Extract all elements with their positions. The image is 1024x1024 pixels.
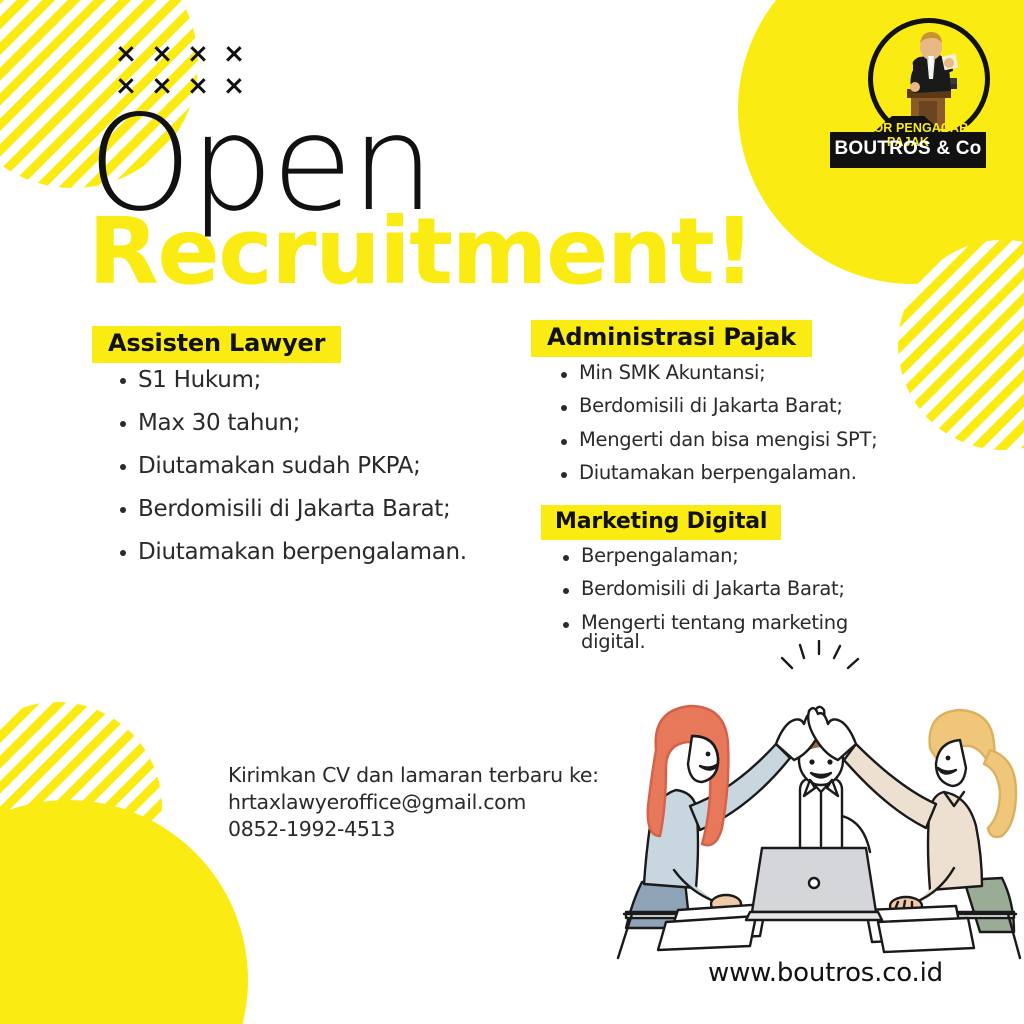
logo-company-name: BOUTROS & Co <box>822 138 994 160</box>
x-mark-icon <box>108 38 144 70</box>
list-item: Mengerti dan bisa mengisi SPT; <box>557 430 911 450</box>
team-high-five-illustration <box>604 640 1024 965</box>
list-item: Max 30 tahun; <box>116 412 512 435</box>
job-marketing-digital: Marketing Digital Berpengalaman; Berdomi… <box>541 505 911 652</box>
yellow-circle-bottom-left-decoration <box>0 800 248 1024</box>
job-column-left: Assisten Lawyer S1 Hukum; Max 30 tahun; … <box>92 326 512 584</box>
job-title-marketing-digital: Marketing Digital <box>541 505 781 540</box>
list-item: Berpengalaman; <box>559 546 911 566</box>
x-mark-icon <box>180 38 216 70</box>
job-administrasi-pajak: Administrasi Pajak Min SMK Akuntansi; Be… <box>531 320 911 483</box>
contact-phone[interactable]: 0852-1992-4513 <box>228 816 599 843</box>
job-title-administrasi-pajak: Administrasi Pajak <box>531 320 812 357</box>
recruitment-poster: KANTOR PENGACARA PAJAK BOUTROS & Co Open… <box>0 0 1024 1024</box>
contact-email[interactable]: hrtaxlawyeroffice@gmail.com <box>228 789 599 816</box>
job-title-assisten-lawyer: Assisten Lawyer <box>92 326 341 363</box>
list-item: Diutamakan sudah PKPA; <box>116 455 512 478</box>
list-item: Berdomisili di Jakarta Barat; <box>557 396 911 416</box>
requirements-list-marketing-digital: Berpengalaman; Berdomisili di Jakarta Ba… <box>559 546 911 652</box>
contact-block: Kirimkan CV dan lamaran terbaru ke: hrta… <box>228 762 599 843</box>
list-item: Berdomisili di Jakarta Barat; <box>559 579 911 599</box>
list-item: Min SMK Akuntansi; <box>557 363 911 383</box>
page-title: Open Recruitment! <box>88 104 754 294</box>
requirements-list-administrasi-pajak: Min SMK Akuntansi; Berdomisili di Jakart… <box>557 363 911 483</box>
list-item: S1 Hukum; <box>116 369 512 392</box>
x-mark-icon <box>216 38 252 70</box>
requirements-list-assisten-lawyer: S1 Hukum; Max 30 tahun; Diutamakan sudah… <box>116 369 512 564</box>
contact-prompt: Kirimkan CV dan lamaran terbaru ke: <box>228 762 599 789</box>
job-column-right: Administrasi Pajak Min SMK Akuntansi; Be… <box>531 320 911 666</box>
list-item: Diutamakan berpengalaman. <box>116 541 512 564</box>
x-mark-icon <box>144 38 180 70</box>
headline-recruitment: Recruitment! <box>88 211 754 294</box>
list-item: Berdomisili di Jakarta Barat; <box>116 498 512 521</box>
list-item: Diutamakan berpengalaman. <box>557 463 911 483</box>
job-assisten-lawyer: Assisten Lawyer S1 Hukum; Max 30 tahun; … <box>92 326 512 564</box>
company-logo: KANTOR PENGACARA PAJAK BOUTROS & Co <box>822 18 994 170</box>
